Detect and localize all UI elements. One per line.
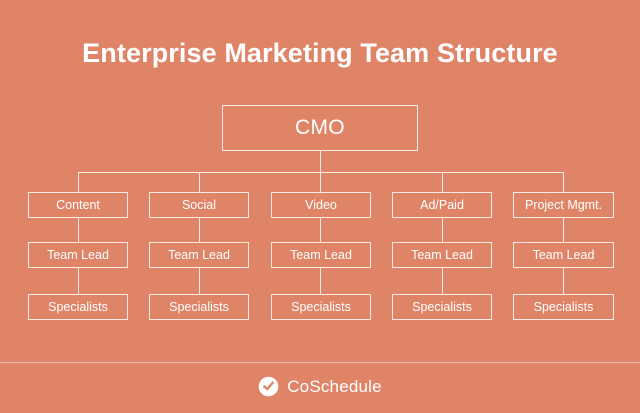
connector-dept1-to-lead1 [78, 218, 79, 242]
connector-drop-col-4 [442, 172, 443, 192]
org-node-team-lead-1[interactable]: Team Lead [28, 242, 128, 268]
org-chart-canvas: Enterprise Marketing Team Structure CMO … [0, 0, 640, 413]
org-node-team-lead-5[interactable]: Team Lead [513, 242, 614, 268]
org-node-team-lead-1-label: Team Lead [47, 248, 109, 262]
org-node-department-3[interactable]: Video [271, 192, 371, 218]
org-node-team-lead-3[interactable]: Team Lead [271, 242, 371, 268]
org-node-department-4-label: Ad/Paid [420, 198, 464, 212]
org-node-specialists-3-label: Specialists [291, 300, 351, 314]
footer-brand: CoSchedule [0, 376, 640, 397]
connector-drop-col-1 [78, 172, 79, 192]
org-node-department-2-label: Social [182, 198, 216, 212]
org-node-specialists-4-label: Specialists [412, 300, 472, 314]
footer-divider [0, 362, 640, 363]
org-node-specialists-1-label: Specialists [48, 300, 108, 314]
org-node-department-1[interactable]: Content [28, 192, 128, 218]
connector-lead1-to-spec1 [78, 268, 79, 294]
org-node-department-4[interactable]: Ad/Paid [392, 192, 492, 218]
org-node-cmo-label: CMO [295, 116, 345, 140]
connector-lead2-to-spec2 [199, 268, 200, 294]
connector-lead5-to-spec5 [563, 268, 564, 294]
org-node-team-lead-2[interactable]: Team Lead [149, 242, 249, 268]
org-node-team-lead-5-label: Team Lead [533, 248, 595, 262]
org-node-cmo[interactable]: CMO [222, 105, 418, 151]
connector-horizontal-bus [78, 172, 564, 173]
org-node-specialists-2[interactable]: Specialists [149, 294, 249, 320]
connector-drop-col-2 [199, 172, 200, 192]
org-node-specialists-1[interactable]: Specialists [28, 294, 128, 320]
org-node-team-lead-4-label: Team Lead [411, 248, 473, 262]
org-node-department-5[interactable]: Project Mgmt. [513, 192, 614, 218]
brand-name: CoSchedule [287, 376, 382, 397]
connector-drop-col-5 [563, 172, 564, 192]
org-node-department-1-label: Content [56, 198, 100, 212]
page-title: Enterprise Marketing Team Structure [0, 36, 640, 70]
org-node-department-3-label: Video [305, 198, 337, 212]
connector-dept5-to-lead5 [563, 218, 564, 242]
connector-dept2-to-lead2 [199, 218, 200, 242]
org-node-specialists-2-label: Specialists [169, 300, 229, 314]
org-node-department-2[interactable]: Social [149, 192, 249, 218]
org-node-specialists-5[interactable]: Specialists [513, 294, 614, 320]
connector-dept4-to-lead4 [442, 218, 443, 242]
org-node-department-5-label: Project Mgmt. [525, 198, 602, 212]
connector-cmo-stem [320, 151, 321, 172]
connector-dept3-to-lead3 [320, 218, 321, 242]
org-node-specialists-5-label: Specialists [534, 300, 594, 314]
org-node-specialists-4[interactable]: Specialists [392, 294, 492, 320]
check-circle-icon [258, 376, 279, 397]
org-node-specialists-3[interactable]: Specialists [271, 294, 371, 320]
connector-lead4-to-spec4 [442, 268, 443, 294]
connector-lead3-to-spec3 [320, 268, 321, 294]
org-node-team-lead-2-label: Team Lead [168, 248, 230, 262]
org-node-team-lead-3-label: Team Lead [290, 248, 352, 262]
connector-drop-col-3 [320, 172, 321, 192]
org-node-team-lead-4[interactable]: Team Lead [392, 242, 492, 268]
